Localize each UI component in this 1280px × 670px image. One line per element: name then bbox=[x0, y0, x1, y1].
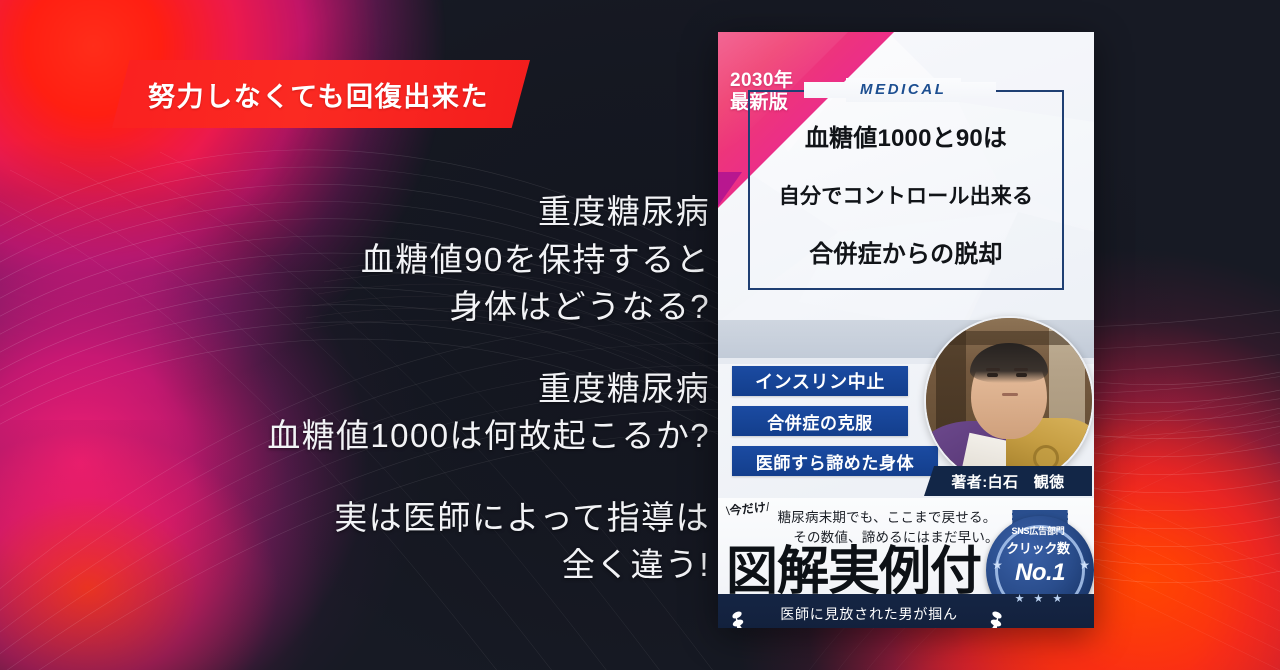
medal-line-2: クリック数 bbox=[1004, 538, 1072, 557]
copy-line: 血糖値1000は何故起こるか? bbox=[30, 412, 710, 460]
laurel-right-icon bbox=[976, 604, 1004, 628]
portrait-brow-left bbox=[986, 368, 1000, 371]
cover-title: 血糖値1000と90は 自分でコントロール出来る 合併症からの脱却 bbox=[748, 110, 1064, 284]
medal-rank: No.1 bbox=[1008, 559, 1072, 587]
copy-line: 重度糖尿病 bbox=[30, 365, 710, 413]
copy-line: 全く違う! bbox=[30, 541, 710, 589]
bullet-item: インスリン中止 bbox=[732, 366, 908, 396]
medal-stars-icon: ★ ★ ★ bbox=[1008, 592, 1072, 605]
testimonial-text: 医師に見放された男が掴ん だ、奇跡ではない現実。 bbox=[758, 604, 980, 628]
copy-line: 重度糖尿病 bbox=[30, 188, 710, 236]
medal-text: SNS広告部門 クリック数 No.1 bbox=[1008, 524, 1072, 587]
frame-gap-left bbox=[804, 82, 848, 98]
book-cover[interactable]: 2030年 最新版 MEDICAL 血糖値1000と90は 自分でコントロール出… bbox=[718, 32, 1094, 628]
bullet-item: 医師すら諦めた身体 bbox=[732, 446, 938, 476]
cover-title-line-2: 自分でコントロール出来る bbox=[748, 168, 1064, 226]
medal-star-right-icon: ★ bbox=[1079, 558, 1090, 572]
copy-line: 実は医師によって指導は bbox=[30, 494, 710, 542]
author-portrait bbox=[924, 316, 1094, 486]
cover-title-line-3: 合併症からの脱却 bbox=[748, 226, 1064, 284]
marketing-copy: 重度糖尿病 血糖値90を保持すると 身体はどうなる? 重度糖尿病 血糖値1000… bbox=[30, 188, 710, 589]
medal-line-1: SNS広告部門 bbox=[1004, 524, 1072, 537]
cover-title-line-1: 血糖値1000と90は bbox=[748, 110, 1064, 168]
copy-line: 血糖値90を保持すると bbox=[30, 236, 710, 284]
category-label: MEDICAL bbox=[846, 78, 961, 102]
author-name-tag: 著者:白石 観徳 bbox=[924, 466, 1092, 496]
copy-block-1: 重度糖尿病 血糖値90を保持すると 身体はどうなる? bbox=[30, 188, 710, 331]
portrait-eye-right bbox=[1016, 373, 1027, 377]
headline-banner-label: 努力しなくても回復出来た bbox=[148, 60, 508, 128]
bullet-item: 合併症の克服 bbox=[732, 406, 908, 436]
copy-block-2: 重度糖尿病 血糖値1000は何故起こるか? bbox=[30, 365, 710, 460]
medal-star-left-icon: ★ bbox=[992, 558, 1003, 572]
portrait-brow-right bbox=[1014, 368, 1028, 371]
copy-block-3: 実は医師によって指導は 全く違う! bbox=[30, 494, 710, 589]
portrait-eye-left bbox=[987, 373, 998, 377]
testimonial-line-2: だ、奇跡ではない現実。 bbox=[758, 626, 980, 628]
promo-headline: 図解実例付 bbox=[726, 546, 981, 598]
advertisement-creative: 努力しなくても回復出来た 重度糖尿病 血糖値90を保持すると 身体はどうなる? … bbox=[0, 0, 1280, 670]
copy-line: 身体はどうなる? bbox=[30, 283, 710, 331]
laurel-left-icon bbox=[730, 604, 758, 628]
portrait-mouth bbox=[1002, 393, 1018, 396]
testimonial-line-1: 医師に見放された男が掴ん bbox=[758, 604, 980, 626]
